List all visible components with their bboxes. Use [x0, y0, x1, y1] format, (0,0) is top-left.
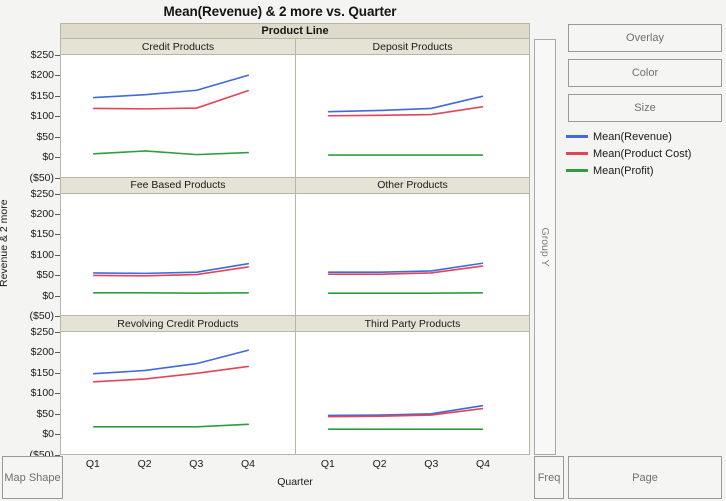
series-line — [94, 75, 248, 97]
x-axis-tick-label: Q3 — [189, 458, 203, 470]
page-title: Mean(Revenue) & 2 more vs. Quarter — [0, 4, 560, 19]
panel-canvas — [60, 194, 295, 317]
legend-item[interactable]: Mean(Profit) — [566, 162, 724, 179]
y-axis-tick-label: $150 — [31, 90, 54, 102]
x-axis-tick-label: Q1 — [86, 458, 100, 470]
overlay-button[interactable]: Overlay — [568, 24, 722, 52]
series-line — [94, 151, 248, 155]
legend-color-swatch — [566, 152, 588, 155]
x-axis: Quarter Q1Q2Q3Q4Q1Q2Q3Q4 — [60, 455, 530, 501]
y-axis-tick-label: $100 — [31, 110, 54, 122]
series-line — [94, 263, 248, 273]
plot-panel: Revolving Credit Products — [60, 316, 295, 455]
y-axis-tick-label: $250 — [31, 188, 54, 200]
legend-item[interactable]: Mean(Product Cost) — [566, 145, 724, 162]
series-line — [94, 366, 248, 381]
panel-title: Other Products — [295, 178, 530, 194]
color-button[interactable]: Color — [568, 59, 722, 87]
legend-color-swatch — [566, 135, 588, 138]
size-button[interactable]: Size — [568, 94, 722, 122]
panel-canvas — [295, 55, 530, 178]
x-axis-tick-label: Q4 — [476, 458, 490, 470]
y-axis-tick-label: $50 — [36, 408, 54, 420]
group-y-drop-zone[interactable]: Group Y — [534, 39, 556, 455]
plot-panel: Other Products — [295, 178, 530, 317]
y-axis-label: Revenue & 2 more — [0, 199, 10, 287]
legend-label: Mean(Profit) — [593, 165, 654, 177]
legend: Mean(Revenue)Mean(Product Cost)Mean(Prof… — [566, 128, 724, 179]
x-axis-tick-label: Q1 — [321, 458, 335, 470]
panel-canvas — [60, 55, 295, 178]
y-axis-tick-label: ($50) — [29, 310, 54, 322]
y-axis-tick-label: $100 — [31, 249, 54, 261]
x-axis-tick-label: Q4 — [241, 458, 255, 470]
plot-panel: Credit Products — [60, 39, 295, 178]
y-axis-tick-label: $200 — [31, 346, 54, 358]
plot-matrix: Credit ProductsDeposit ProductsFee Based… — [60, 39, 530, 455]
series-line — [329, 263, 483, 272]
y-axis-tick-label: $250 — [31, 326, 54, 338]
legend-label: Mean(Product Cost) — [593, 148, 691, 160]
y-axis-tick-label: $100 — [31, 387, 54, 399]
panel-title: Fee Based Products — [60, 178, 295, 194]
y-axis-tick-label: $150 — [31, 228, 54, 240]
y-axis-tick-label: $50 — [36, 131, 54, 143]
plot-row: Revolving Credit ProductsThird Party Pro… — [60, 316, 530, 455]
y-axis-tick-label: $50 — [36, 269, 54, 281]
y-axis-tick-label: $150 — [31, 367, 54, 379]
legend-color-swatch — [566, 169, 588, 172]
panel-title: Revolving Credit Products — [60, 316, 295, 332]
plot-panel: Third Party Products — [295, 316, 530, 455]
y-axis-tick-label: $0 — [42, 290, 54, 302]
panel-title: Deposit Products — [295, 39, 530, 55]
map-shape-button[interactable]: Map Shape — [2, 456, 63, 499]
y-axis-tick-label: $200 — [31, 208, 54, 220]
series-line — [94, 424, 248, 426]
legend-label: Mean(Revenue) — [593, 131, 672, 143]
legend-item[interactable]: Mean(Revenue) — [566, 128, 724, 145]
y-axis-tick-label: $0 — [42, 428, 54, 440]
plot-panel: Deposit Products — [295, 39, 530, 178]
freq-button[interactable]: Freq — [534, 456, 564, 499]
y-axis-tick-label: ($50) — [29, 172, 54, 184]
y-axis-tick-label: $250 — [31, 49, 54, 61]
y-axis-tick-label: $200 — [31, 69, 54, 81]
panel-canvas — [295, 194, 530, 317]
panel-title: Third Party Products — [295, 316, 530, 332]
series-line — [94, 91, 248, 109]
x-axis-tick-label: Q2 — [373, 458, 387, 470]
panel-canvas — [60, 332, 295, 455]
y-axis-tick-label: $0 — [42, 151, 54, 163]
series-line — [329, 406, 483, 416]
plot-row: Credit ProductsDeposit Products — [60, 39, 530, 178]
x-axis-tick-label: Q2 — [138, 458, 152, 470]
series-line — [329, 96, 483, 111]
column-group-header: Product Line — [60, 23, 530, 39]
plot-row: Fee Based ProductsOther Products — [60, 178, 530, 317]
x-axis-label: Quarter — [60, 476, 530, 488]
page-button[interactable]: Page — [568, 456, 722, 499]
panel-canvas — [295, 332, 530, 455]
group-y-label: Group Y — [539, 228, 551, 267]
jmp-graph-builder-window: Mean(Revenue) & 2 more vs. Quarter Produ… — [0, 0, 726, 501]
y-axis: $250$200$150$100$50$0($50)$250$200$150$1… — [0, 39, 60, 455]
x-axis-tick-label: Q3 — [424, 458, 438, 470]
panel-title: Credit Products — [60, 39, 295, 55]
plot-panel: Fee Based Products — [60, 178, 295, 317]
